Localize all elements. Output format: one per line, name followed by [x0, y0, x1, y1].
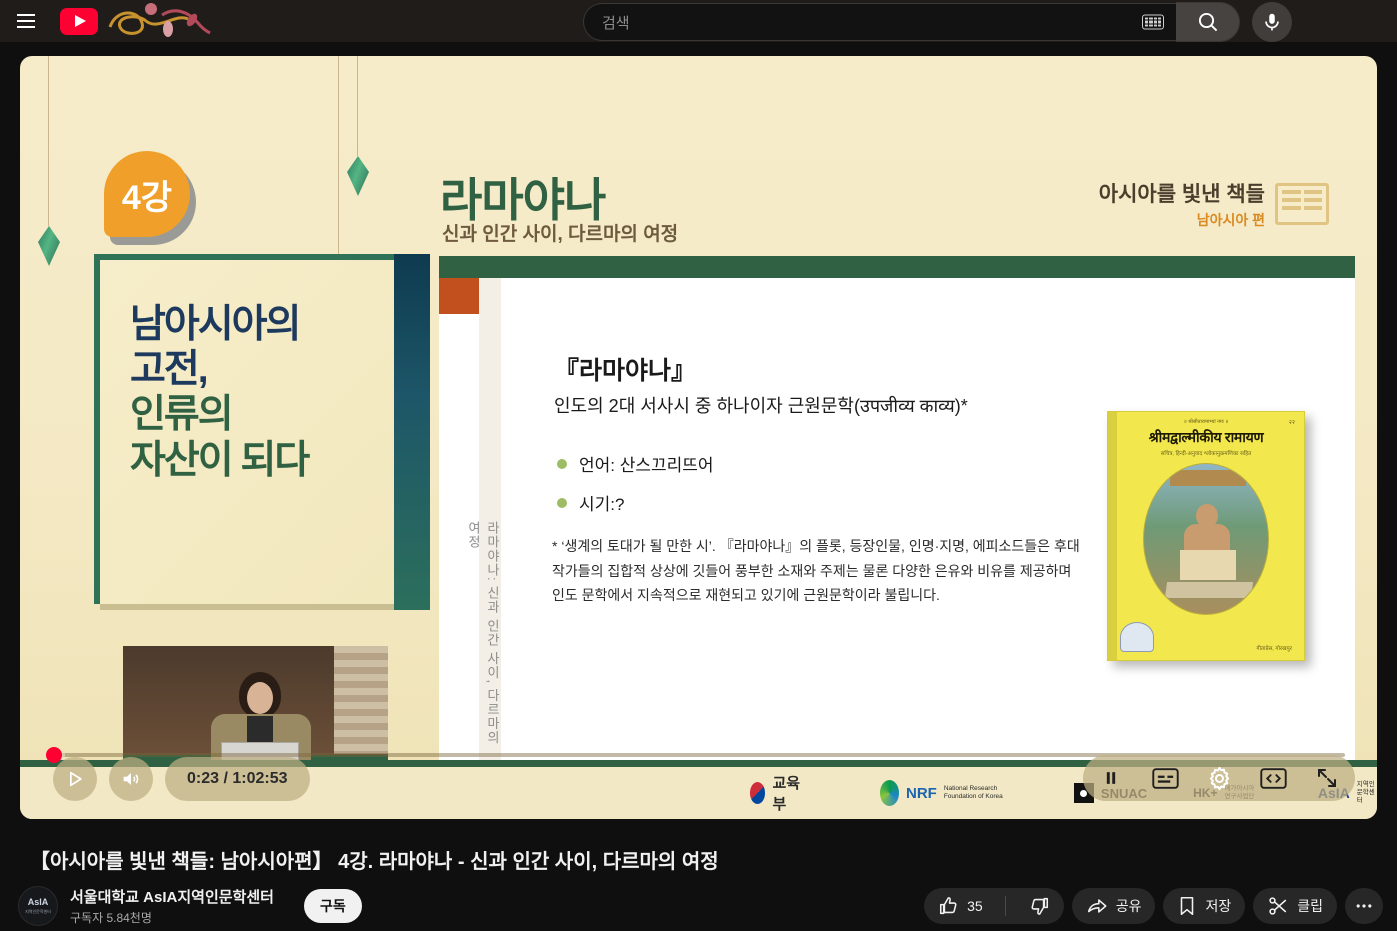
scissors-icon [1267, 895, 1289, 917]
more-actions-button[interactable] [1345, 888, 1383, 924]
subtitles-icon [1152, 768, 1179, 789]
play-icon [65, 769, 85, 789]
time-display: 0:23 / 1:02:53 [165, 757, 310, 801]
like-dislike-group: 35 [924, 888, 1064, 924]
subtitles-button[interactable] [1151, 764, 1179, 792]
clip-label: 클립 [1297, 896, 1323, 916]
youtube-logo[interactable] [60, 8, 98, 35]
avatar-label: AsIA [28, 898, 49, 907]
masthead: 검색 [0, 0, 1397, 42]
share-label: 공유 [1116, 896, 1142, 916]
search-placeholder: 검색 [602, 12, 630, 33]
settings-button[interactable] [1205, 764, 1233, 792]
doodle-decoration[interactable] [102, 1, 217, 41]
like-count: 35 [967, 898, 983, 914]
volume-icon [120, 768, 142, 790]
microphone-icon [1261, 11, 1283, 33]
fullscreen-button[interactable] [1313, 764, 1341, 792]
action-buttons: 35 공유 저장 클립 [924, 888, 1383, 924]
more-horizontal-icon [1354, 896, 1374, 916]
save-label: 저장 [1205, 896, 1231, 916]
autoplay-toggle[interactable] [1097, 764, 1125, 792]
voice-search-button[interactable] [1252, 2, 1292, 42]
player-controls-left: 0:23 / 1:02:53 [53, 757, 310, 801]
share-icon [1086, 895, 1108, 917]
youtube-play-icon [60, 8, 98, 35]
save-button[interactable]: 저장 [1163, 888, 1245, 924]
video-player[interactable]: 4강 라마야나 신과 인간 사이, 다르마의 여정 아시아를 빛낸 책들 남아시… [20, 56, 1377, 819]
search-icon [1196, 10, 1220, 34]
theater-mode-button[interactable] [1259, 764, 1287, 792]
hamburger-menu-icon[interactable] [6, 1, 46, 41]
gear-icon [1207, 766, 1232, 791]
thumbs-up-icon [938, 895, 960, 917]
search-button[interactable] [1176, 2, 1240, 42]
fullscreen-icon [1315, 766, 1339, 790]
like-button[interactable]: 35 [924, 888, 997, 924]
video-title: 【아시아를 빛낸 책들: 남아시아편】 4강. 라마야나 - 신과 인간 사이,… [30, 845, 719, 874]
volume-button[interactable] [109, 757, 153, 801]
bookmark-icon [1177, 895, 1197, 917]
subscribe-button[interactable]: 구독 [304, 889, 362, 923]
channel-row: AsIA 지역인문학센터 서울대학교 AsIA지역인문학센터 구독자 5.84천… [18, 886, 362, 926]
code-window-icon [1260, 768, 1287, 789]
clip-button[interactable]: 클립 [1253, 888, 1337, 924]
play-button[interactable] [53, 757, 97, 801]
player-controls-right [1083, 755, 1355, 801]
channel-name[interactable]: 서울대학교 AsIA지역인문학센터 [70, 886, 274, 907]
dislike-button[interactable] [1014, 888, 1064, 924]
search-area: 검색 [583, 2, 1292, 42]
keyboard-icon[interactable] [1142, 15, 1164, 30]
pause-icon [1101, 768, 1121, 788]
avatar-sublabel: 지역인문학센터 [25, 909, 51, 915]
action-divider [1005, 896, 1006, 916]
channel-subscribers: 구독자 5.84천명 [70, 909, 274, 926]
share-button[interactable]: 공유 [1072, 888, 1156, 924]
search-input[interactable]: 검색 [583, 3, 1176, 41]
channel-avatar[interactable]: AsIA 지역인문학센터 [18, 886, 58, 926]
thumbs-down-icon [1028, 895, 1050, 917]
player-controls: 0:23 / 1:02:53 [20, 56, 1377, 819]
